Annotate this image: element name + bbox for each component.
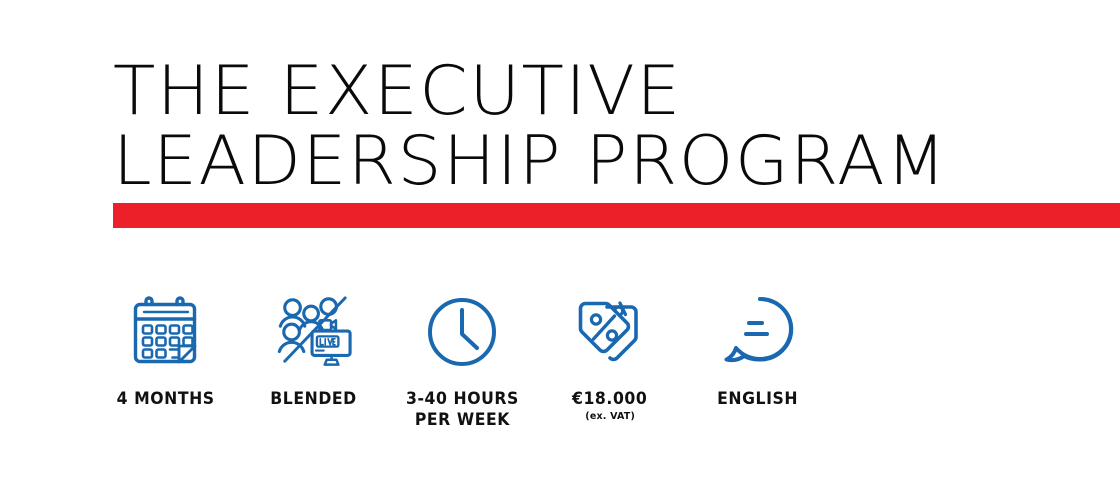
fact-label: ENGLISH bbox=[718, 388, 799, 409]
fact-label: BLENDED bbox=[271, 388, 357, 409]
fact-workload: 3-40 HOURS PER WEEK bbox=[388, 292, 536, 430]
fact-label: 4 MONTHS bbox=[117, 388, 215, 409]
title-line-1: THE EXECUTIVE bbox=[113, 57, 1120, 127]
clock-icon bbox=[423, 292, 501, 372]
fact-label: 3-40 HOURS PER WEEK bbox=[406, 388, 519, 430]
calendar-icon bbox=[127, 292, 205, 372]
title-line-2: LEADERSHIP PROGRAM bbox=[113, 127, 1120, 197]
speech-bubble-icon bbox=[719, 292, 797, 372]
page-title: THE EXECUTIVE LEADERSHIP PROGRAM bbox=[113, 57, 1120, 197]
price-tag-icon bbox=[571, 292, 649, 372]
blended-learning-icon bbox=[275, 292, 353, 372]
program-facts-row: 4 MONTHS bbox=[92, 292, 832, 430]
fact-duration: 4 MONTHS bbox=[92, 292, 240, 409]
fact-language: ENGLISH bbox=[684, 292, 832, 409]
fact-sublabel: (ex. VAT) bbox=[585, 410, 635, 423]
fact-price: €18.000 (ex. VAT) bbox=[536, 292, 684, 423]
fact-label: €18.000 bbox=[572, 388, 647, 409]
program-overview-banner: THE EXECUTIVE LEADERSHIP PROGRAM bbox=[0, 0, 1120, 477]
accent-bar bbox=[113, 203, 1120, 228]
fact-format: BLENDED bbox=[240, 292, 388, 409]
